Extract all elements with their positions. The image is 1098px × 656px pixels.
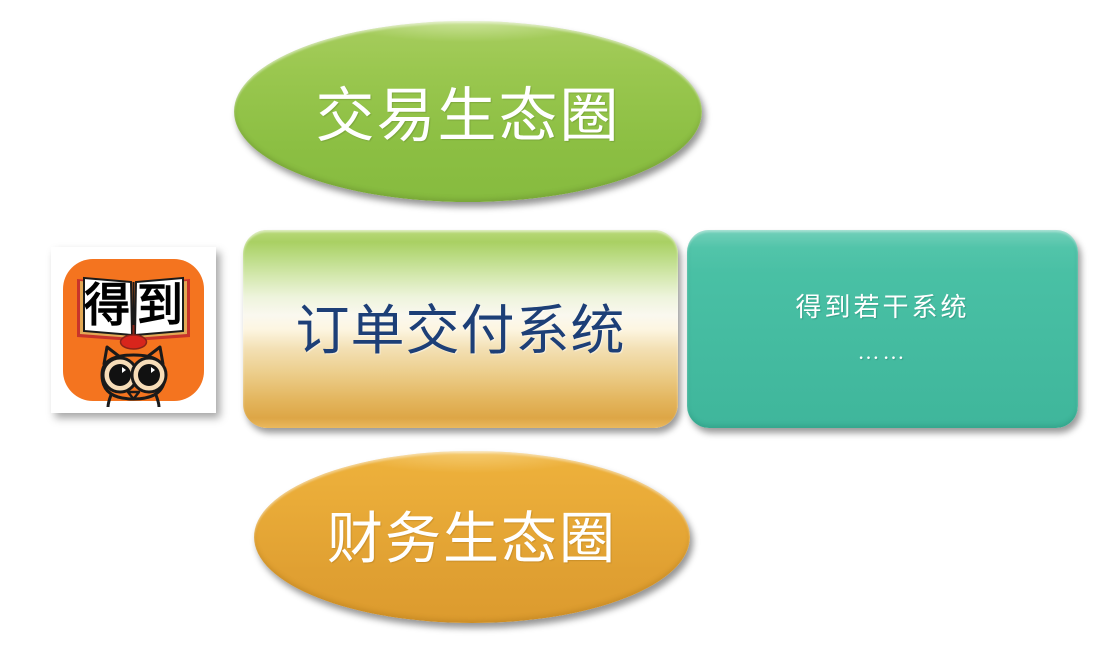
owl-pupil-left: [109, 364, 131, 386]
node-trading-ecosystem[interactable]: 交易生态圈: [234, 21, 702, 202]
node-order-delivery-system-label: 订单交付系统: [296, 304, 626, 358]
bookmark-knob: [121, 335, 147, 349]
book-char-right: 到: [137, 280, 183, 331]
node-dedao-other-systems-ellipsis: ……: [858, 341, 908, 363]
owl-pupil-right: [138, 364, 160, 386]
node-finance-ecosystem[interactable]: 财务生态圈: [254, 451, 690, 623]
book-char-left: 得: [84, 280, 130, 331]
dedao-logo-graphic: 得 到: [51, 247, 216, 413]
node-dedao-other-systems-label: 得到若干系统: [795, 295, 969, 321]
slide-canvas: 交易生态圈 订单交付系统 得到若干系统 …… 财务生态圈: [0, 0, 1098, 656]
dedao-app-logo: 得 到: [51, 247, 216, 413]
node-dedao-other-systems[interactable]: 得到若干系统 ……: [687, 230, 1078, 428]
node-trading-ecosystem-label: 交易生态圈: [315, 87, 620, 146]
node-order-delivery-system[interactable]: 订单交付系统: [243, 230, 678, 428]
node-finance-ecosystem-label: 财务生态圈: [327, 512, 617, 568]
